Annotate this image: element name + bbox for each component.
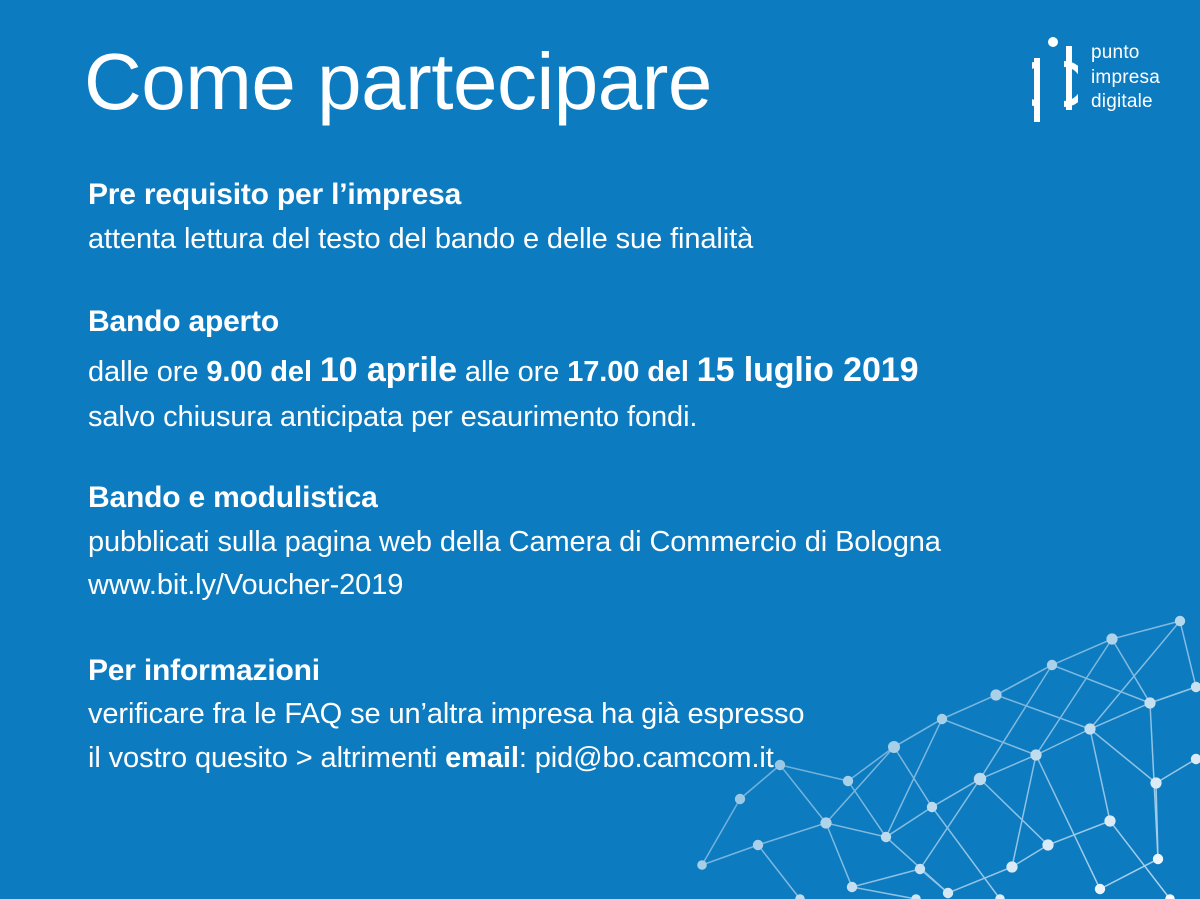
content-body: Pre requisito per l’impresa attenta lett… [88, 176, 1148, 780]
text-run: verificare fra le FAQ se un’altra impres… [88, 698, 804, 730]
text-run: www.bit.ly/Voucher-2019 [88, 569, 403, 601]
text-run: : pid@bo.camcom.it [519, 742, 774, 774]
text-run: 9.00 del [206, 356, 320, 388]
text-run: dalle ore [88, 356, 206, 388]
section-pre-requisito: Pre requisito per l’impresa attenta lett… [88, 176, 1148, 261]
text-run: pubblicati sulla pagina web della Camera… [88, 526, 941, 558]
text-run: salvo chiusura anticipata per esauriment… [88, 401, 697, 433]
section-heading: Per informazioni [88, 652, 1148, 690]
section-bando-aperto: Bando aperto dalle ore 9.00 del 10 april… [88, 303, 1148, 439]
text-run: alle ore [457, 356, 567, 388]
text-run: attenta lettura del testo del bando e de… [88, 223, 753, 255]
slide: Come partecipare punto impresa digitale … [0, 0, 1200, 899]
section-line-url[interactable]: www.bit.ly/Voucher-2019 [88, 564, 1148, 608]
section-heading: Bando aperto [88, 303, 1148, 341]
logo-line-impresa: impresa [1091, 66, 1160, 91]
section-line-email[interactable]: il vostro quesito > altrimenti email: pi… [88, 737, 1148, 781]
text-run: il vostro quesito > altrimenti [88, 742, 445, 774]
logo-wordmark: punto impresa digitale [1091, 41, 1160, 115]
section-line: dalle ore 9.00 del 10 aprile alle ore 17… [88, 345, 1148, 396]
logo: punto impresa digitale [1032, 30, 1160, 126]
logo-line-punto: punto [1091, 41, 1160, 66]
text-run: email [445, 742, 519, 774]
section-bando-e-modulistica: Bando e modulistica pubblicati sulla pag… [88, 479, 1148, 608]
section-heading: Pre requisito per l’impresa [88, 176, 1148, 214]
text-run: 15 luglio 2019 [697, 351, 919, 389]
logo-line-digitale: digitale [1091, 90, 1160, 115]
section-line: attenta lettura del testo del bando e de… [88, 218, 1148, 262]
section-heading: Bando e modulistica [88, 479, 1148, 517]
section-line: pubblicati sulla pagina web della Camera… [88, 521, 1148, 565]
page-title: Come partecipare [84, 42, 712, 122]
section-line: salvo chiusura anticipata per esauriment… [88, 396, 1148, 440]
text-run: 17.00 del [567, 356, 697, 388]
section-line: verificare fra le FAQ se un’altra impres… [88, 693, 1148, 737]
text-run: 10 aprile [320, 351, 457, 389]
pid-logo-icon [1032, 30, 1078, 126]
section-per-informazioni: Per informazioni verificare fra le FAQ s… [88, 652, 1148, 781]
